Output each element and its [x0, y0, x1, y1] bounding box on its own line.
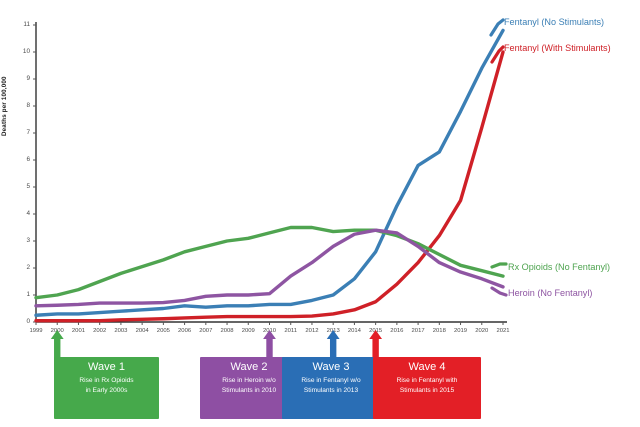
- legend-label-fentanyl-no-stimulants: Fentanyl (No Stimulants): [504, 17, 604, 27]
- wave-3-title: Wave 3: [282, 361, 380, 374]
- wave-2-arrow-head: [263, 330, 276, 339]
- wave-1-arrow: [51, 330, 64, 360]
- series-line-2: [36, 228, 503, 298]
- legend-label-heroin-no-fentanyl: Heroin (No Fentanyl): [508, 288, 592, 298]
- legend-label-fentanyl-with-stimulants: Fentanyl (With Stimulants): [504, 43, 611, 53]
- wave-3-arrow-head: [327, 330, 340, 339]
- opioid-overdose-waves-chart: Deaths per 100,000 01234567891011 199920…: [0, 0, 640, 427]
- wave-3-line2: Stimulants in 2013: [282, 386, 380, 396]
- wave-3-line1: Rise in Fentanyl w/o: [282, 376, 380, 386]
- series-line-0: [36, 30, 503, 315]
- legend-leader-green: [492, 264, 506, 267]
- wave-1-arrow-head: [51, 330, 64, 339]
- legend-leader-purple: [492, 288, 506, 295]
- wave-4-title: Wave 4: [373, 361, 481, 374]
- wave-4-arrow-head: [369, 330, 382, 339]
- wave-4-arrow: [369, 330, 382, 360]
- wave-1-line2: in Early 2000s: [54, 386, 159, 396]
- wave-4-line2: Stimulants in 2015: [373, 386, 481, 396]
- wave-4-callout: Wave 4 Rise in Fentanyl with Stimulants …: [373, 357, 481, 419]
- wave-3-callout: Wave 3 Rise in Fentanyl w/o Stimulants i…: [282, 357, 380, 419]
- wave-1-line1: Rise in Rx Opioids: [54, 376, 159, 386]
- legend-label-rx-opioids-no-fentanyl: Rx Opioids (No Fentanyl): [508, 262, 610, 272]
- wave-2-arrow: [263, 330, 276, 360]
- wave-1-callout: Wave 1 Rise in Rx Opioids in Early 2000s: [54, 357, 159, 419]
- wave-3-arrow: [327, 330, 340, 360]
- wave-1-title: Wave 1: [54, 361, 159, 374]
- wave-4-line1: Rise in Fentanyl with: [373, 376, 481, 386]
